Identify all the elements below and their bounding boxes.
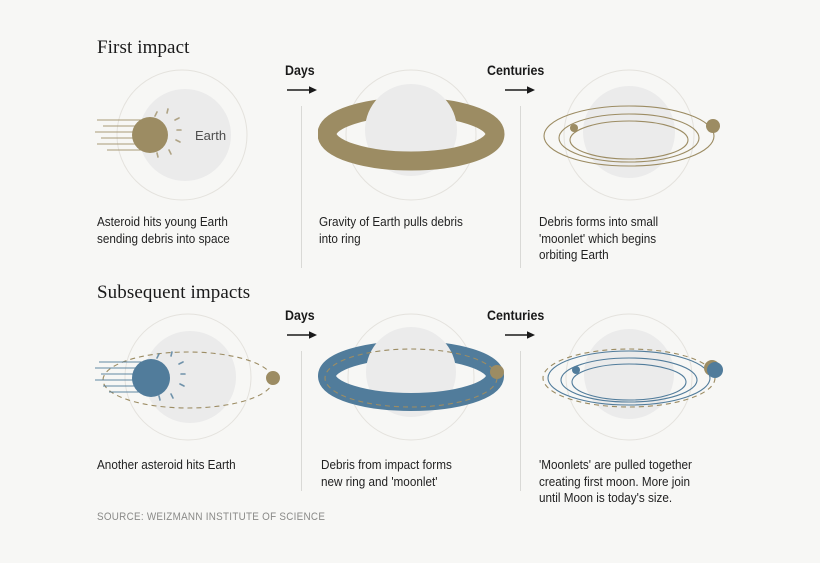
earth-label: Earth (195, 128, 226, 143)
scene-impact-blue (95, 312, 295, 442)
row-title-first-impact: First impact (97, 37, 190, 59)
scene-orbits-blue (536, 312, 736, 442)
source-line: SOURCE: WEIZMANN INSTITUTE OF SCIENCE (97, 511, 325, 523)
caption-row1-step3: Debris forms into small 'moonlet' which … (539, 214, 725, 264)
caption-row2-step1: Another asteroid hits Earth (97, 457, 283, 474)
caption-row1-step1: Asteroid hits young Earth sending debris… (97, 214, 283, 247)
moonlet-tan (490, 365, 504, 379)
caption-row1-step2: Gravity of Earth pulls debris into ring (319, 214, 505, 247)
moonlet-small-blue (572, 366, 580, 374)
scene-impact-tan: Earth (95, 68, 290, 203)
scene-ring-blue (318, 312, 518, 442)
moonlet-tan (266, 371, 280, 385)
asteroid-blue (132, 359, 170, 397)
moonlet-small-tan (570, 124, 578, 132)
caption-row2-step3: 'Moonlets' are pulled together creating … (539, 457, 730, 507)
caption-row2-step2: Debris from impact forms new ring and 'm… (321, 457, 507, 490)
moon-merged-blue (707, 362, 723, 378)
row-title-subsequent-impacts: Subsequent impacts (97, 282, 250, 304)
scene-orbits-tan (536, 68, 736, 203)
scene-ring-tan (318, 68, 513, 203)
asteroid-tan (132, 117, 168, 153)
panel-divider-row2-a (301, 351, 302, 491)
panel-divider-row2-b (520, 351, 521, 491)
panel-divider-row1-a (301, 106, 302, 268)
panel-divider-row1-b (520, 106, 521, 268)
moonlet-large-tan (706, 119, 720, 133)
arrow-right-days-row1 (287, 84, 317, 96)
